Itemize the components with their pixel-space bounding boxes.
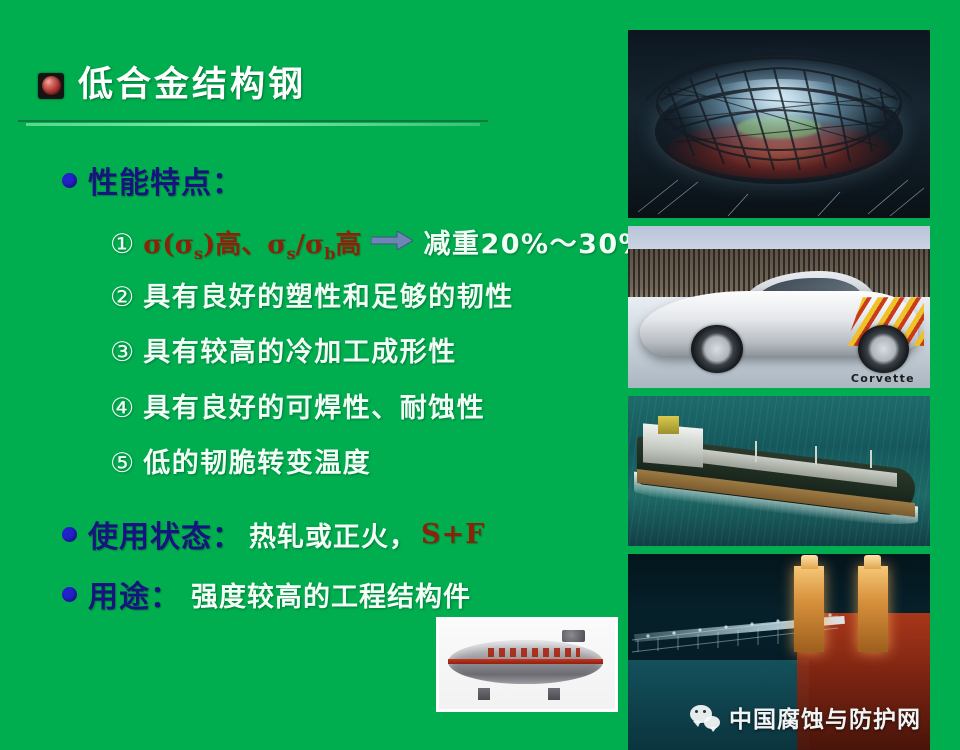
blue-dot-icon — [62, 587, 77, 602]
yangtze-bridge-photo: 中国腐蚀与防护网 — [628, 554, 930, 750]
list-item: ③ 具有较高的冷加工成形性 — [110, 330, 457, 369]
list-item: ① σ(σs)高、σs/σb高 减重20%～30% — [110, 222, 647, 263]
blue-dot-icon — [62, 527, 77, 542]
slide-title-row: 低合金结构钢 — [38, 68, 306, 103]
usage-state-value: 热轧或正火， — [249, 515, 417, 554]
weight-reduction-value: 减重20%～30% — [423, 222, 647, 261]
application-label: 用途： — [88, 572, 181, 616]
item-text: 低的韧脆转变温度 — [143, 441, 371, 480]
list-item: ④ 具有良好的可焊性、耐蚀性 — [110, 386, 485, 425]
watermark-text: 中国腐蚀与防护网 — [729, 700, 921, 734]
usage-state-phase: S+F — [421, 519, 485, 550]
corvette-photo: Corvette — [628, 226, 930, 388]
item-number: ⑤ — [110, 448, 134, 479]
application-value: 强度较高的工程结构件 — [191, 575, 471, 614]
bird-nest-stadium-photo — [628, 30, 930, 218]
section-performance-heading: 性能特点： — [62, 158, 243, 202]
cargo-ship-photo — [628, 396, 930, 546]
section-application: 用途： 强度较高的工程结构件 — [62, 572, 471, 616]
sigma-formula: σ(σs)高、σs/σb高 — [143, 224, 361, 263]
item-text: 具有较高的冷加工成形性 — [143, 330, 457, 369]
item-text: 具有良好的可焊性、耐蚀性 — [143, 386, 485, 425]
wechat-icon — [690, 705, 720, 729]
usage-state-label: 使用状态： — [88, 512, 243, 556]
item-number: ① — [110, 229, 134, 260]
item-number: ④ — [110, 393, 134, 424]
slide-canvas: 低合金结构钢 性能特点： ① σ(σs)高、σs/σb高 减重20%～30% ②… — [0, 0, 960, 720]
car-caption: Corvette — [851, 372, 915, 385]
page-title: 低合金结构钢 — [78, 68, 306, 103]
item-number: ③ — [110, 337, 134, 368]
wechat-watermark: 中国腐蚀与防护网 — [690, 700, 921, 734]
right-arrow-icon — [371, 231, 413, 255]
section-usage-state: 使用状态： 热轧或正火， S+F — [62, 512, 485, 556]
blue-dot-icon — [62, 173, 77, 188]
item-text: 具有良好的塑性和足够的韧性 — [143, 275, 514, 314]
performance-label: 性能特点： — [88, 158, 243, 202]
list-item: ② 具有良好的塑性和足够的韧性 — [110, 275, 514, 314]
item-number: ② — [110, 282, 134, 313]
title-divider — [18, 120, 488, 127]
pressure-vessel-photo — [436, 617, 618, 712]
red-orb-icon — [38, 73, 64, 99]
list-item: ⑤ 低的韧脆转变温度 — [110, 441, 371, 480]
